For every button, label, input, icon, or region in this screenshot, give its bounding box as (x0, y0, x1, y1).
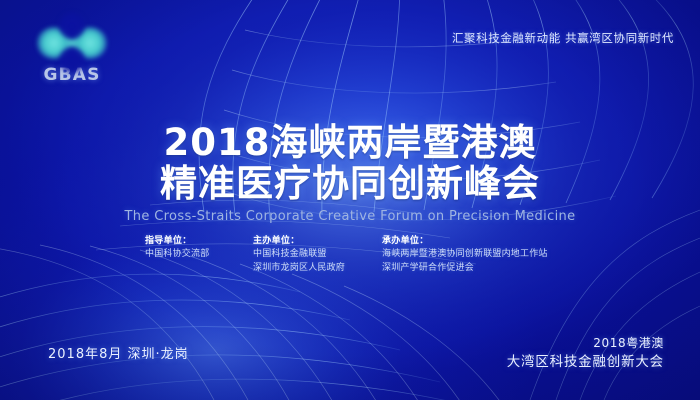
organizer-heading: 承办单位： (382, 234, 548, 248)
english-subtitle: The Cross-Straits Corporate Creative For… (0, 209, 700, 224)
title-line-1: 2018海峡两岸暨港澳 (0, 122, 700, 163)
organizer-column-guidance: 指导单位： 中国科协交流部 (145, 234, 253, 262)
organizer-block: 指导单位： 中国科协交流部 主办单位： 中国科技金融联盟 深圳市龙岗区人民政府 … (145, 234, 548, 275)
organizer-item: 深圳产学研合作促进会 (382, 262, 548, 276)
organizer-item: 海峡两岸暨港澳协同创新联盟内地工作站 (382, 248, 548, 262)
event-poster: GBAS 汇聚科技金融新动能 共赢湾区协同新时代 2018海峡两岸暨港澳 精准医… (0, 0, 700, 400)
footer-event-series: 2018粤港澳 大湾区科技金融创新大会 (507, 334, 664, 372)
footer-series-line-1: 2018粤港澳 (507, 334, 664, 352)
organizer-item: 中国科技金融联盟 (253, 248, 382, 262)
organizer-heading: 指导单位： (145, 234, 253, 248)
organizer-column-host: 主办单位： 中国科技金融联盟 深圳市龙岗区人民政府 (253, 234, 382, 275)
footer-series-line-2: 大湾区科技金融创新大会 (507, 352, 664, 372)
organizer-heading: 主办单位： (253, 234, 382, 248)
gbas-infinity-mark-icon (32, 22, 112, 64)
footer-date-location: 2018年8月 深圳·龙岗 (48, 343, 189, 362)
organizer-column-organizer: 承办单位： 海峡两岸暨港澳协同创新联盟内地工作站 深圳产学研合作促进会 (382, 234, 548, 275)
slogan-text: 汇聚科技金融新动能 共赢湾区协同新时代 (452, 30, 674, 46)
organizer-item: 深圳市龙岗区人民政府 (253, 262, 382, 276)
title-line-2: 精准医疗协同创新峰会 (0, 163, 700, 204)
organizer-item: 中国科协交流部 (145, 248, 253, 262)
gbas-logo: GBAS (30, 22, 114, 85)
title-block: 2018海峡两岸暨港澳 精准医疗协同创新峰会 The Cross-Straits… (0, 122, 700, 224)
